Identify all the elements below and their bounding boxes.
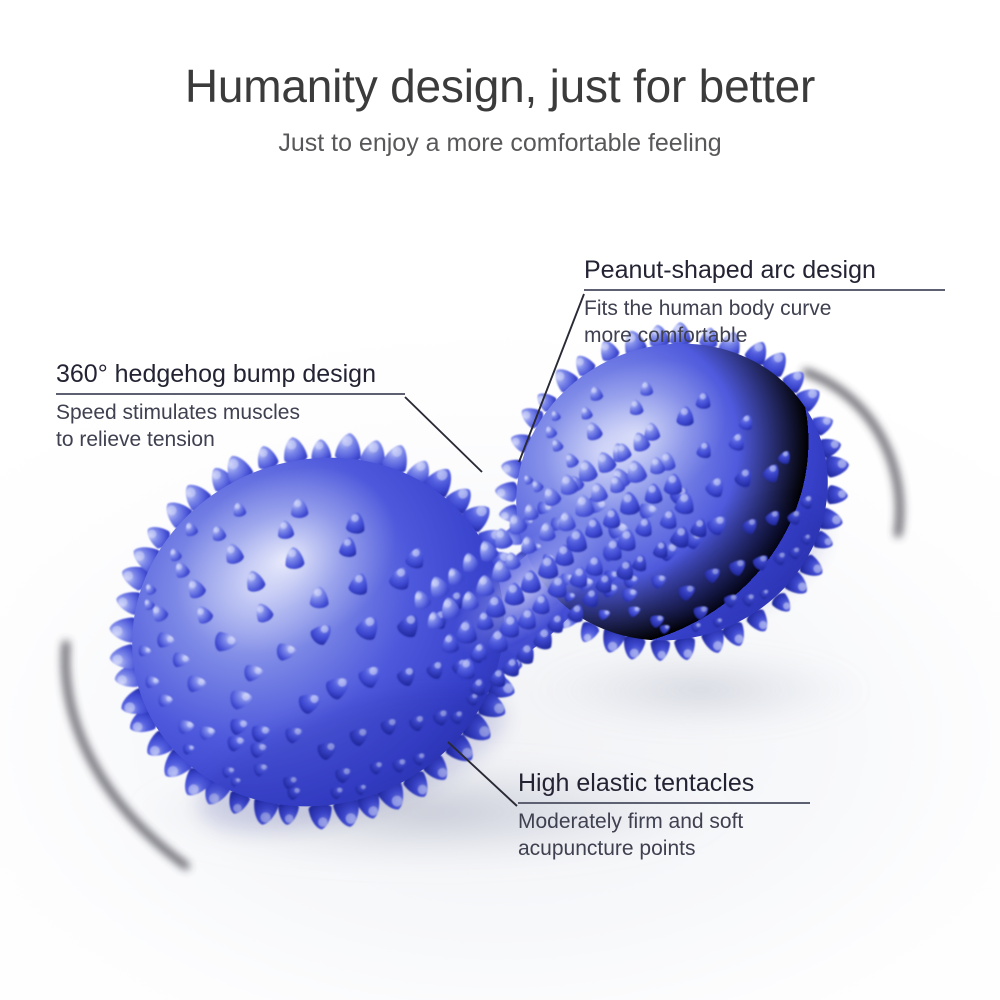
callout-tentacles-body-line1: Moderately firm and soft — [518, 808, 810, 836]
callout-peanut-rule — [584, 289, 945, 291]
callout-peanut-title: Peanut-shaped arc design — [584, 256, 945, 286]
callout-hedgehog-rule — [56, 393, 405, 395]
callout-tentacles-rule — [518, 802, 810, 804]
product-infographic: Humanity design, just for better Just to… — [0, 0, 1000, 1000]
contact-shadow-secondary — [530, 646, 870, 734]
page-subtitle: Just to enjoy a more comfortable feeling — [0, 112, 1000, 158]
callout-tentacles: High elastic tentacles Moderately firm a… — [518, 769, 810, 863]
header: Humanity design, just for better Just to… — [0, 0, 1000, 157]
callout-hedgehog: 360° hedgehog bump design Speed stimulat… — [56, 360, 405, 454]
callout-hedgehog-body-line1: Speed stimulates muscles — [56, 399, 405, 427]
callout-peanut-body-line2: more comfortable — [584, 322, 945, 350]
callout-peanut-body-line1: Fits the human body curve — [584, 295, 945, 323]
callout-hedgehog-body-line2: to relieve tension — [56, 426, 405, 454]
callout-hedgehog-title: 360° hedgehog bump design — [56, 360, 405, 390]
callout-tentacles-body-line2: acupuncture points — [518, 835, 810, 863]
page-title: Humanity design, just for better — [0, 0, 1000, 112]
callout-peanut: Peanut-shaped arc design Fits the human … — [584, 256, 945, 350]
callout-tentacles-title: High elastic tentacles — [518, 769, 810, 799]
